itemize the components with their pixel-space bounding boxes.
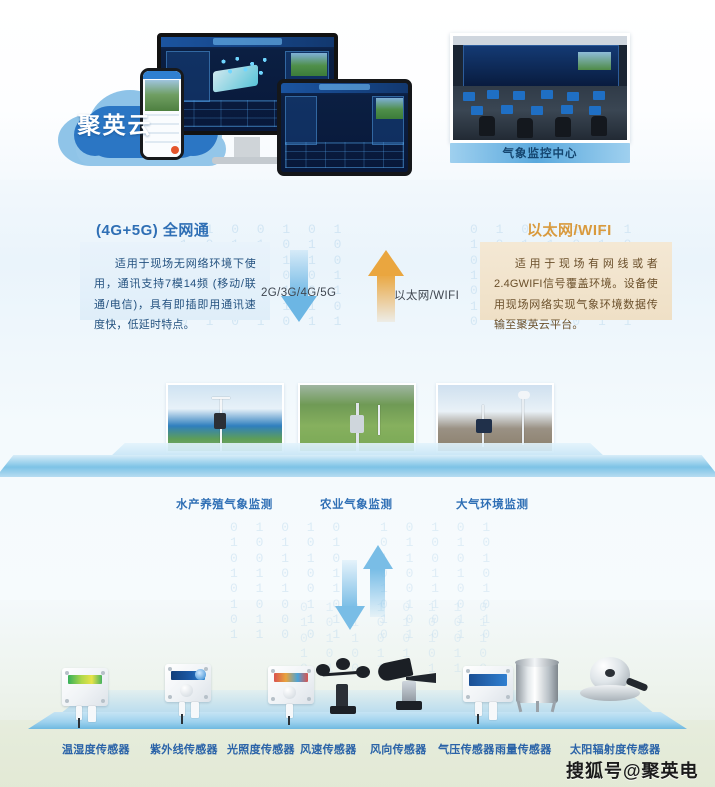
tablet-screen [277, 79, 412, 176]
scene-platform [0, 455, 715, 477]
sensor-label-solar-radiation: 太阳辐射度传感器 [570, 741, 660, 757]
sensor-label-air-pressure: 气压传感器 [438, 741, 495, 757]
watermark-text: 搜狐号@聚英电子 [566, 757, 715, 787]
ethernet-wifi-tag: 以太网/WIFI [394, 287, 459, 303]
sensor-label-illuminance: 光照度传感器 [227, 741, 295, 757]
network-left-heading: (4G+5G) 全网通 [96, 219, 209, 240]
data-up-arrow-icon [363, 545, 393, 617]
network-right-heading: 以太网/WIFI [527, 219, 612, 240]
downlink-arrow-icon [281, 250, 317, 322]
sensor-label-temperature-humidity: 温湿度传感器 [62, 741, 130, 757]
rain-gauge-sensor-icon [510, 655, 566, 715]
cloud-logo-label: 聚英云 [62, 106, 168, 140]
tablet-mockup [277, 79, 412, 176]
sensor-label-ultraviolet: 紫外线传感器 [150, 741, 218, 757]
sensor-label-wind-speed: 风速传感器 [300, 741, 357, 757]
wind-direction-sensor-icon [378, 655, 444, 715]
temperature-humidity-sensor-icon [62, 668, 108, 706]
sensor-label-rain-gauge: 雨量传感器 [495, 741, 552, 757]
scene-label-atmosphere: 大气环境监测 [456, 496, 529, 512]
ultraviolet-sensor-icon [165, 664, 211, 702]
air-pressure-sensor-icon [463, 666, 513, 702]
data-down-arrow-icon [335, 560, 365, 632]
network-left-box: 适用于现场无网络环境下使用，通讯支持7模14频 (移动/联通/电信)，具有即插即… [80, 242, 270, 320]
monitor-stand-neck [234, 137, 260, 159]
network-right-box: 适用于现场有网线或者2.4GWIFI信号覆盖环境。设备使用现场网络实现气象环境数… [480, 242, 672, 320]
solar-radiation-sensor-icon [578, 655, 648, 713]
network-right-body: 适用于现场有网线或者2.4GWIFI信号覆盖环境。设备使用现场网络实现气象环境数… [494, 254, 658, 335]
scene-photo-aquaculture [166, 383, 284, 453]
scene-label-aquaculture: 水产养殖气象监测 [176, 496, 273, 512]
uplink-arrow-icon [368, 250, 404, 322]
network-left-body: 适用于现场无网络环境下使用，通讯支持7模14频 (移动/联通/电信)，具有即插即… [94, 254, 256, 335]
sensor-deck [28, 712, 687, 729]
sensor-label-wind-direction: 风向传感器 [370, 741, 427, 757]
tablet-dashboard-art [281, 83, 408, 172]
cellular-network-tag: 2G/3G/4G/5G [261, 287, 336, 299]
wind-speed-sensor-icon [316, 658, 372, 714]
control-room-label: 气象监控中心 [450, 143, 630, 163]
control-room-photo [450, 33, 630, 143]
illuminance-sensor-icon [268, 666, 314, 704]
monitor-stand-foot [212, 157, 282, 164]
scene-photo-agriculture [298, 383, 416, 453]
scene-label-agriculture: 农业气象监测 [320, 496, 393, 512]
platform-top-face [110, 443, 605, 457]
scene-photo-atmosphere [436, 383, 554, 453]
infographic-canvas: 0 1 0 0 1 0 1 1 0 1 1 0 1 0 0 0 1 0 1 1 … [0, 0, 715, 787]
